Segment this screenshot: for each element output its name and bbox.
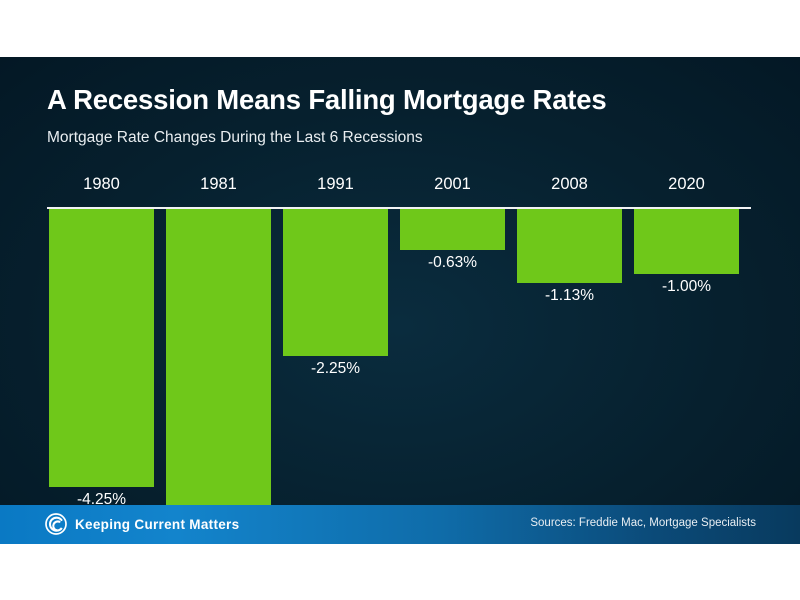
bar-value-label: -2.25% <box>283 360 388 378</box>
slide-canvas: A Recession Means Falling Mortgage Rates… <box>0 0 800 600</box>
x-axis-tick-label: 1980 <box>49 175 154 194</box>
bar-column: 1980-4.25% <box>49 57 154 505</box>
bar[interactable] <box>634 209 739 274</box>
sources-note: Sources: Freddie Mac, Mortgage Specialis… <box>530 517 756 529</box>
brand-name: Keeping Current Matters <box>75 517 239 532</box>
bar[interactable] <box>283 209 388 356</box>
bar-value-label: -1.13% <box>517 287 622 305</box>
spiral-circle-icon <box>45 513 67 535</box>
chart-panel: A Recession Means Falling Mortgage Rates… <box>0 57 800 505</box>
bar-column: 2001-0.63% <box>400 57 505 505</box>
bar[interactable] <box>166 209 271 505</box>
x-axis-tick-label: 1991 <box>283 175 388 194</box>
footer-bar: Keeping Current Matters Sources: Freddie… <box>0 505 800 544</box>
bar[interactable] <box>49 209 154 487</box>
bar-column: 2008-1.13% <box>517 57 622 505</box>
brand-logo[interactable]: Keeping Current Matters <box>45 513 239 535</box>
bar-column: 1981-5.00% <box>166 57 271 505</box>
bar-column: 2020-1.00% <box>634 57 739 505</box>
x-axis-tick-label: 2001 <box>400 175 505 194</box>
bar-column: 1991-2.25% <box>283 57 388 505</box>
bar-chart: 1980-4.25%1981-5.00%1991-2.25%2001-0.63%… <box>0 57 800 505</box>
bar[interactable] <box>517 209 622 283</box>
bar-value-label: -4.25% <box>49 491 154 505</box>
x-axis-tick-label: 2020 <box>634 175 739 194</box>
x-axis-tick-label: 2008 <box>517 175 622 194</box>
bar-value-label: -1.00% <box>634 278 739 296</box>
bar[interactable] <box>400 209 505 250</box>
x-axis-tick-label: 1981 <box>166 175 271 194</box>
bar-value-label: -0.63% <box>400 254 505 272</box>
